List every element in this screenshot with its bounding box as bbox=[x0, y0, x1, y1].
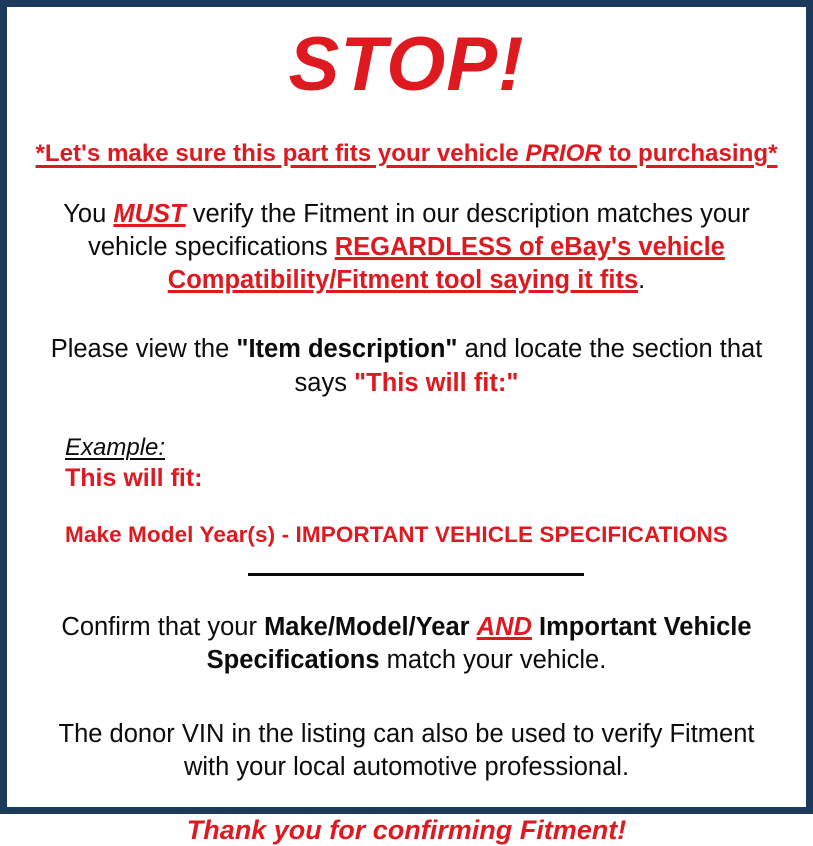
paragraph-confirm: Confirm that your Make/Model/Year AND Im… bbox=[19, 611, 794, 677]
tagline-underlined-run: *Let's make sure this part fits your veh… bbox=[35, 140, 777, 167]
quoted-this-will-fit: "This will fit:" bbox=[354, 369, 518, 397]
fitment-notice-card: STOP! *Let's make sure this part fits yo… bbox=[0, 0, 813, 814]
bold-make-model-year: Make/Model/Year bbox=[264, 613, 470, 641]
tagline-emphasis-prior: PRIOR bbox=[525, 140, 601, 167]
divider-wrapper bbox=[19, 573, 794, 585]
confirm-segment-2 bbox=[470, 613, 477, 641]
item-desc-segment-1: Please view the bbox=[51, 335, 237, 363]
confirm-segment-4: match your vehicle. bbox=[380, 646, 607, 674]
quoted-item-description: "Item description" bbox=[236, 335, 457, 363]
verify-segment-1: You bbox=[63, 200, 113, 228]
verify-segment-3: . bbox=[638, 266, 645, 294]
tagline: *Let's make sure this part fits your veh… bbox=[25, 141, 788, 168]
example-fit-heading: This will fit: bbox=[65, 463, 794, 493]
example-spec-line: Make Model Year(s) - IMPORTANT VEHICLE S… bbox=[65, 521, 794, 548]
emphasis-must: MUST bbox=[113, 200, 185, 228]
notice-content: STOP! *Let's make sure this part fits yo… bbox=[7, 7, 806, 807]
closing-thank-you: Thank you for confirming Fitment! bbox=[19, 814, 794, 846]
paragraph-verify-fitment: You MUST verify the Fitment in our descr… bbox=[19, 198, 794, 297]
page-title: STOP! bbox=[19, 27, 794, 103]
example-label-row: Example: bbox=[65, 434, 794, 462]
confirm-segment-3 bbox=[532, 613, 539, 641]
paragraph-donor-vin: The donor VIN in the listing can also be… bbox=[19, 718, 794, 784]
tagline-text-after: to purchasing* bbox=[602, 140, 778, 167]
confirm-segment-1: Confirm that your bbox=[61, 613, 264, 641]
example-block: Example: This will fit: Make Model Year(… bbox=[19, 434, 794, 549]
tagline-text-before: *Let's make sure this part fits your veh… bbox=[35, 140, 525, 167]
emphasis-and: AND bbox=[477, 613, 532, 641]
section-divider bbox=[248, 573, 584, 576]
example-label: Example: bbox=[65, 434, 165, 462]
paragraph-item-description: Please view the "Item description" and l… bbox=[19, 333, 794, 399]
